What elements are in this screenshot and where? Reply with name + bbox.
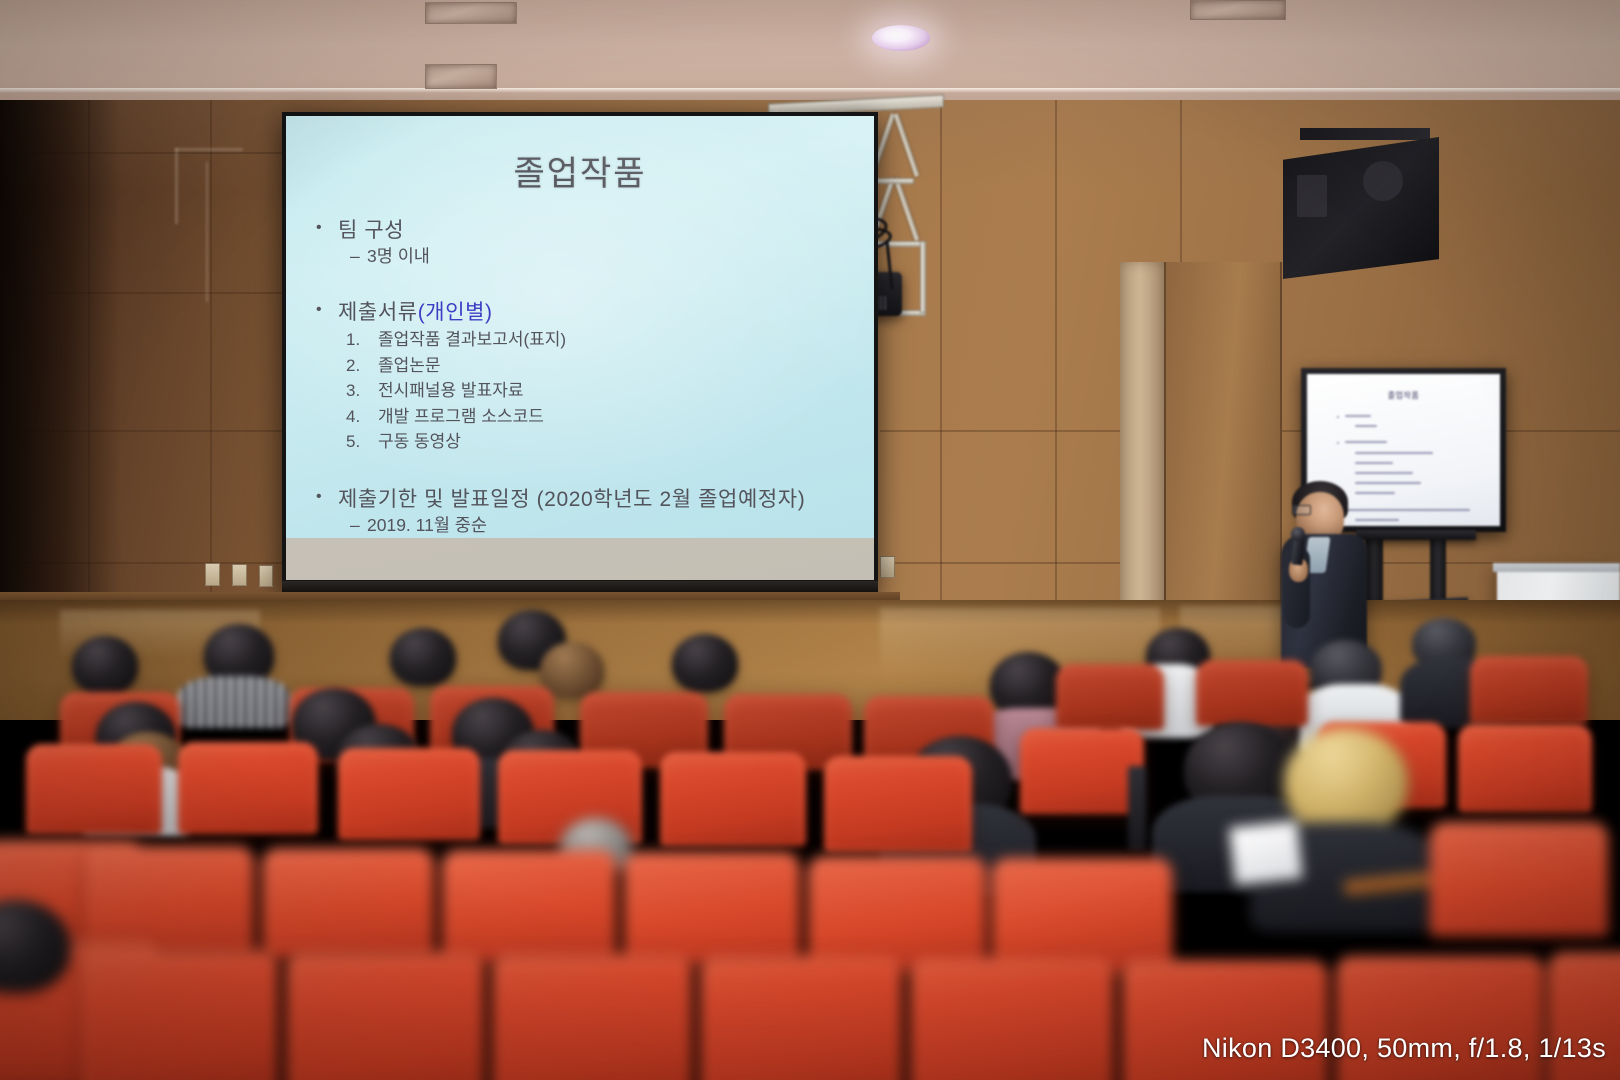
seat xyxy=(442,850,616,964)
ceiling-seam xyxy=(0,88,1620,93)
slide-body: • 팀 구성 – 3명 이내 • 제출서류(개인별) 1. xyxy=(316,214,866,537)
seat xyxy=(338,748,480,840)
wall-panel-seam xyxy=(1055,100,1057,680)
bullet-marker: • xyxy=(316,487,338,514)
audience-head xyxy=(540,642,604,698)
seat xyxy=(992,858,1172,974)
dash-marker: – xyxy=(350,514,367,537)
ceiling-downlight xyxy=(872,25,930,51)
seat xyxy=(1430,822,1608,936)
slide-title: 졸업작품 xyxy=(286,146,874,195)
bullet-marker: • xyxy=(316,300,338,327)
handout-paper xyxy=(1229,821,1303,886)
list-text: 졸업작품 결과보고서(표지) xyxy=(378,327,566,353)
slide-subbullet-3-1: – 2019. 11월 중순 xyxy=(350,514,866,537)
audience-head xyxy=(390,628,456,686)
slide-numbered-item: 1. 졸업작품 결과보고서(표지) xyxy=(346,327,866,353)
slide-numbered-item: 3. 전시패널용 발표자료 xyxy=(346,378,866,404)
slide-spacer xyxy=(316,455,866,483)
mini-text-line xyxy=(1355,482,1421,484)
list-number: 1. xyxy=(346,327,378,353)
ceiling-speaker xyxy=(1283,137,1439,279)
mini-text-line xyxy=(1355,425,1377,427)
seat xyxy=(1458,724,1592,812)
bullet-text-plain: 제출서류 xyxy=(338,301,418,324)
ceiling-vent-near xyxy=(425,64,497,89)
slide-bullet-1: • 팀 구성 xyxy=(316,218,866,245)
subbullet-text: 3명 이내 xyxy=(367,245,430,268)
screen-surface: 졸업작품 • 팀 구성 – 3명 이내 • 제출서류( xyxy=(286,116,874,580)
seat xyxy=(624,852,800,966)
bullet-text: 제출기한 및 발표일정 (2020학년도 2월 졸업예정자) xyxy=(338,487,805,514)
seat xyxy=(1470,656,1588,724)
slide-numbered-item: 4. 개발 프로그램 소스코드 xyxy=(346,404,866,430)
seat xyxy=(1056,664,1164,730)
wall-outlet-plate xyxy=(205,563,220,586)
seat xyxy=(286,952,484,1080)
mini-bullet-dot xyxy=(1337,416,1339,418)
mini-text-line xyxy=(1355,462,1393,464)
podium-top-surface xyxy=(1493,563,1620,572)
list-text: 졸업논문 xyxy=(378,353,441,379)
wall-scuff-mark xyxy=(175,148,178,224)
speaker-grille xyxy=(1297,175,1327,217)
projected-slide: 졸업작품 • 팀 구성 – 3명 이내 • 제출서류( xyxy=(286,116,874,538)
monitor-slide-title: 졸업작품 xyxy=(1307,390,1500,401)
subbullet-text: 2019. 11월 중순 xyxy=(367,514,487,537)
wall-outlet-plate xyxy=(232,564,247,586)
list-number: 4. xyxy=(346,404,378,430)
camera-exif-watermark: Nikon D3400, 50mm, f/1.8, 1/13s xyxy=(1202,1033,1606,1064)
list-text: 구동 동영상 xyxy=(378,429,461,455)
wall-outlet-plate xyxy=(259,565,273,587)
dash-marker: – xyxy=(350,245,367,268)
wall-outlet-plate xyxy=(880,556,895,578)
slide-bullet-2: • 제출서류(개인별) xyxy=(316,300,866,327)
mini-text-line xyxy=(1355,452,1433,454)
audience-head xyxy=(72,636,138,694)
seat xyxy=(808,856,986,972)
seat xyxy=(1020,728,1144,814)
seat xyxy=(262,848,434,960)
presenter-glasses xyxy=(1292,505,1311,515)
bullet-text-highlight: (개인별) xyxy=(418,301,493,324)
bullet-text: 팀 구성 xyxy=(338,218,404,245)
mini-text-line xyxy=(1355,519,1399,521)
mini-text-line xyxy=(1345,415,1371,417)
seat xyxy=(660,752,806,846)
mini-text-line xyxy=(1355,492,1395,494)
seat xyxy=(492,954,692,1080)
wall-scuff-mark xyxy=(175,148,243,151)
slide-subbullet-1-1: – 3명 이내 xyxy=(350,245,866,268)
bullet-text: 제출서류(개인별) xyxy=(338,300,493,327)
seat xyxy=(700,956,902,1080)
mini-text-line xyxy=(1345,441,1387,443)
monitor-stand-top xyxy=(1356,530,1476,540)
mini-text-line xyxy=(1345,509,1470,511)
slide-numbered-item: 2. 졸업논문 xyxy=(346,353,866,379)
speaker-mount-bracket xyxy=(1300,128,1430,140)
list-text: 개발 프로그램 소스코드 xyxy=(378,404,544,430)
list-number: 3. xyxy=(346,378,378,404)
speaker-woofer xyxy=(1363,161,1403,201)
seat xyxy=(26,744,162,834)
list-number: 5. xyxy=(346,429,378,455)
audience-head xyxy=(672,634,738,692)
lecture-hall-photo: 졸업작품 • 팀 구성 – 3명 이내 • 제출서류( xyxy=(0,0,1620,1080)
ceiling-vent-far xyxy=(425,2,517,24)
bullet-marker: • xyxy=(316,218,338,245)
rig-frame-right xyxy=(920,241,926,313)
audience-seating xyxy=(0,600,1620,1080)
slide-spacer xyxy=(316,268,866,296)
seat xyxy=(82,950,278,1080)
seat xyxy=(1196,660,1308,726)
seat xyxy=(824,756,972,852)
slide-numbered-item: 5. 구동 동영상 xyxy=(346,429,866,455)
seat xyxy=(910,958,1114,1080)
audience-shoulders xyxy=(178,676,290,728)
mini-bullet-dot xyxy=(1337,442,1339,444)
slide-bullet-3: • 제출기한 및 발표일정 (2020학년도 2월 졸업예정자) xyxy=(316,487,866,514)
microphone-head xyxy=(1291,527,1305,541)
wall-scuff-mark xyxy=(206,162,208,302)
list-number: 2. xyxy=(346,353,378,379)
seat-armrest xyxy=(1128,766,1146,850)
seat xyxy=(178,742,318,834)
ceiling-vent-far-right xyxy=(1190,0,1286,20)
list-text: 전시패널용 발표자료 xyxy=(378,378,523,404)
audience-head xyxy=(1284,728,1408,834)
wall-panel-seam xyxy=(940,100,942,680)
projection-screen: 졸업작품 • 팀 구성 – 3명 이내 • 제출서류( xyxy=(282,112,878,596)
mini-text-line xyxy=(1355,472,1413,474)
